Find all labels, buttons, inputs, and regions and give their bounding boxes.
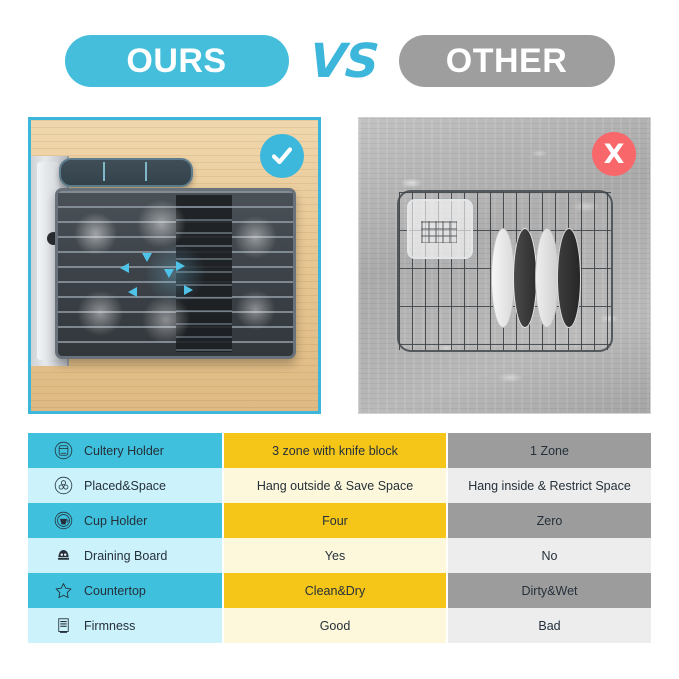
basket-utensil-cup bbox=[407, 199, 473, 259]
feature-cell: Draining Board bbox=[28, 538, 222, 573]
other-pill: OTHER bbox=[399, 35, 615, 87]
comparison-header: OURS VS OTHER bbox=[0, 30, 679, 92]
other-cell: 1 Zone bbox=[448, 433, 651, 468]
ours-pill: OURS bbox=[65, 35, 289, 87]
flow-arrow-left bbox=[128, 287, 137, 297]
other-cell: Hang inside & Restrict Space bbox=[448, 468, 651, 503]
feature-label: Firmness bbox=[84, 619, 135, 633]
ours-cell: Yes bbox=[224, 538, 446, 573]
flow-arrow-down bbox=[164, 269, 174, 278]
flow-arrow-right bbox=[176, 261, 185, 271]
draining-board-icon bbox=[54, 546, 73, 565]
table-row: Draining Board Yes No bbox=[28, 538, 651, 573]
table-row: Cultery Holder 3 zone with knife block 1… bbox=[28, 433, 651, 468]
ours-product-photo bbox=[28, 117, 321, 414]
table-row: Placed&Space Hang outside & Save Space H… bbox=[28, 468, 651, 503]
water-splash bbox=[58, 191, 293, 356]
ours-cell: Good bbox=[224, 608, 446, 643]
cup-holder-icon bbox=[54, 511, 73, 530]
plate bbox=[513, 228, 537, 328]
feature-label: Cup Holder bbox=[84, 514, 147, 528]
feature-label: Countertop bbox=[84, 584, 146, 598]
feature-cell: Cup Holder bbox=[28, 503, 222, 538]
wire-basket bbox=[397, 190, 613, 352]
plate bbox=[557, 228, 581, 328]
cup-drain-holes bbox=[421, 221, 457, 243]
flow-arrow-left bbox=[120, 263, 129, 273]
ours-cell: Four bbox=[224, 503, 446, 538]
other-label: OTHER bbox=[446, 42, 568, 81]
ours-cell: Clean&Dry bbox=[224, 573, 446, 608]
check-icon bbox=[260, 134, 304, 178]
vs-mark: VS bbox=[287, 38, 400, 85]
cutlery-divider bbox=[103, 162, 105, 181]
cutlery-holder-icon bbox=[54, 441, 73, 460]
feature-cell: Cultery Holder bbox=[28, 433, 222, 468]
feature-cell: Placed&Space bbox=[28, 468, 222, 503]
photo-panels: X bbox=[28, 117, 651, 414]
ours-cell: 3 zone with knife block bbox=[224, 433, 446, 468]
flow-arrow-right bbox=[184, 285, 193, 295]
other-cell: Bad bbox=[448, 608, 651, 643]
cutlery-divider bbox=[145, 162, 147, 181]
firmness-icon bbox=[54, 616, 73, 635]
plate bbox=[535, 228, 559, 328]
cutlery-holder bbox=[59, 158, 193, 187]
x-icon: X bbox=[592, 132, 636, 176]
feature-label: Cultery Holder bbox=[84, 444, 164, 458]
comparison-table: Cultery Holder 3 zone with knife block 1… bbox=[28, 433, 651, 643]
table-row: Firmness Good Bad bbox=[28, 608, 651, 643]
other-cell: Zero bbox=[448, 503, 651, 538]
feature-label: Placed&Space bbox=[84, 479, 166, 493]
dish-rack bbox=[55, 188, 296, 359]
table-row: Countertop Clean&Dry Dirty&Wet bbox=[28, 573, 651, 608]
ours-label: OURS bbox=[126, 42, 226, 81]
placement-icon bbox=[54, 476, 73, 495]
feature-label: Draining Board bbox=[84, 549, 167, 563]
flow-arrow-down bbox=[142, 253, 152, 262]
plate bbox=[491, 228, 515, 328]
star-icon bbox=[54, 581, 73, 600]
feature-cell: Firmness bbox=[28, 608, 222, 643]
other-cell: No bbox=[448, 538, 651, 573]
table-row: Cup Holder Four Zero bbox=[28, 503, 651, 538]
x-badge-label: X bbox=[604, 141, 625, 168]
other-cell: Dirty&Wet bbox=[448, 573, 651, 608]
other-product-photo: X bbox=[358, 117, 651, 414]
feature-cell: Countertop bbox=[28, 573, 222, 608]
ours-cell: Hang outside & Save Space bbox=[224, 468, 446, 503]
